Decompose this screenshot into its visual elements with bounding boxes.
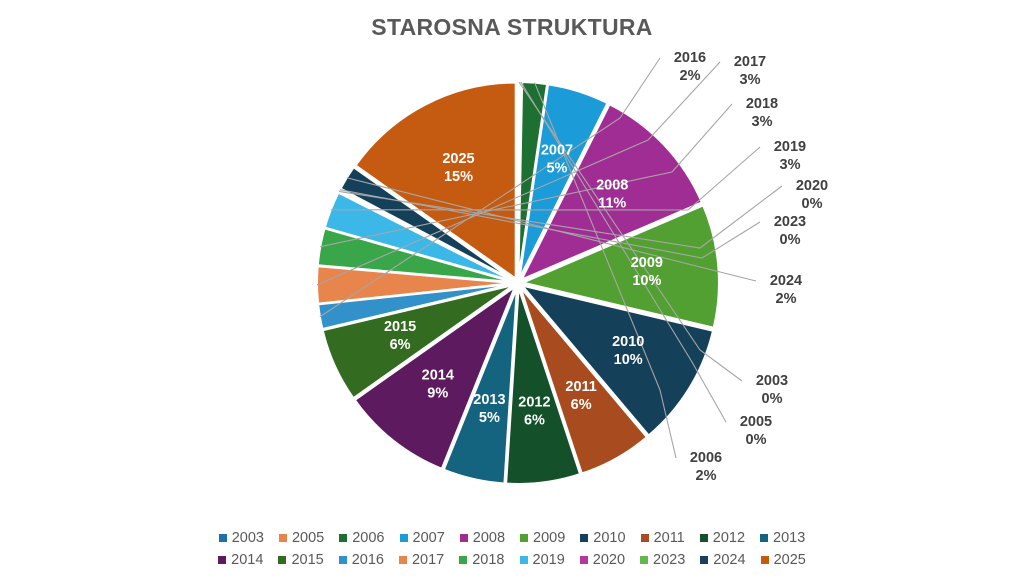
- legend-label: 2023: [653, 552, 685, 568]
- legend-swatch-icon: [400, 534, 408, 542]
- pie-chart-canvas: 20030%20050%20062%20075%200811%200910%20…: [0, 0, 1024, 588]
- legend-swatch-icon: [580, 534, 588, 542]
- slice-label-outside: 20062%: [690, 450, 722, 484]
- legend-item-2006[interactable]: 2006: [339, 530, 384, 546]
- legend-label: 2003: [232, 530, 264, 546]
- legend-swatch-icon: [459, 556, 467, 564]
- legend-label: 2020: [593, 552, 625, 568]
- legend-item-2014[interactable]: 2014: [218, 552, 263, 568]
- slice-label-outside: 20193%: [774, 139, 806, 173]
- legend-item-2010[interactable]: 2010: [580, 530, 625, 546]
- legend-swatch-icon: [279, 534, 287, 542]
- legend-swatch-icon: [399, 556, 407, 564]
- legend-label: 2008: [473, 530, 505, 546]
- legend-label: 2009: [533, 530, 565, 546]
- legend-item-2011[interactable]: 2011: [641, 530, 685, 546]
- legend-swatch-icon: [520, 556, 528, 564]
- legend-item-2015[interactable]: 2015: [278, 552, 323, 568]
- legend-item-2012[interactable]: 2012: [700, 530, 745, 546]
- legend-item-2020[interactable]: 2020: [580, 552, 625, 568]
- legend-item-2008[interactable]: 2008: [460, 530, 505, 546]
- legend-label: 2007: [413, 530, 445, 546]
- legend-label: 2025: [774, 552, 806, 568]
- legend-item-2007[interactable]: 2007: [400, 530, 445, 546]
- legend-swatch-icon: [640, 556, 648, 564]
- legend-item-2018[interactable]: 2018: [459, 552, 504, 568]
- legend-label: 2018: [472, 552, 504, 568]
- slice-label-outside: 20242%: [770, 273, 802, 307]
- legend-label: 2011: [654, 530, 685, 546]
- slice-label-outside: 20200%: [796, 178, 828, 212]
- legend-item-2017[interactable]: 2017: [399, 552, 444, 568]
- slice-label-outside: 20173%: [734, 54, 766, 88]
- legend-item-2016[interactable]: 2016: [339, 552, 384, 568]
- legend-label: 2014: [231, 552, 263, 568]
- slice-label-outside: 20050%: [740, 414, 772, 448]
- slice-label-outside: 20183%: [746, 96, 778, 130]
- pie-chart-figure: STAROSNA STRUKTURA 20030%20050%20062%200…: [0, 0, 1024, 588]
- legend-label: 2012: [713, 530, 745, 546]
- legend-item-2009[interactable]: 2009: [520, 530, 565, 546]
- legend-label: 2017: [412, 552, 444, 568]
- legend-swatch-icon: [761, 556, 769, 564]
- legend-swatch-icon: [460, 534, 468, 542]
- legend-label: 2005: [292, 530, 324, 546]
- legend-label: 2024: [713, 552, 745, 568]
- legend-swatch-icon: [219, 534, 227, 542]
- legend-item-2025[interactable]: 2025: [761, 552, 806, 568]
- chart-legend: 2003200520062007200820092010201120122013…: [0, 530, 1024, 568]
- slice-label-outside: 20162%: [674, 50, 706, 84]
- legend-swatch-icon: [339, 534, 347, 542]
- legend-item-2005[interactable]: 2005: [279, 530, 324, 546]
- legend-swatch-icon: [700, 534, 708, 542]
- legend-item-2024[interactable]: 2024: [700, 552, 745, 568]
- legend-swatch-icon: [641, 534, 649, 542]
- legend-item-2019[interactable]: 2019: [520, 552, 565, 568]
- legend-label: 2013: [773, 530, 805, 546]
- legend-label: 2015: [291, 552, 323, 568]
- legend-swatch-icon: [760, 534, 768, 542]
- slice-label-outside: 20030%: [756, 373, 788, 407]
- legend-swatch-icon: [520, 534, 528, 542]
- legend-label: 2019: [533, 552, 565, 568]
- legend-row: 2003200520062007200820092010201120122013: [219, 530, 806, 546]
- legend-swatch-icon: [339, 556, 347, 564]
- legend-label: 2016: [352, 552, 384, 568]
- legend-item-2023[interactable]: 2023: [640, 552, 685, 568]
- legend-swatch-icon: [580, 556, 588, 564]
- slice-label-outside: 20230%: [774, 214, 806, 248]
- legend-row: 2014201520162017201820192020202320242025: [218, 552, 806, 568]
- legend-item-2003[interactable]: 2003: [219, 530, 264, 546]
- legend-swatch-icon: [218, 556, 226, 564]
- legend-swatch-icon: [278, 556, 286, 564]
- legend-swatch-icon: [700, 556, 708, 564]
- legend-label: 2010: [593, 530, 625, 546]
- legend-item-2013[interactable]: 2013: [760, 530, 805, 546]
- legend-label: 2006: [352, 530, 384, 546]
